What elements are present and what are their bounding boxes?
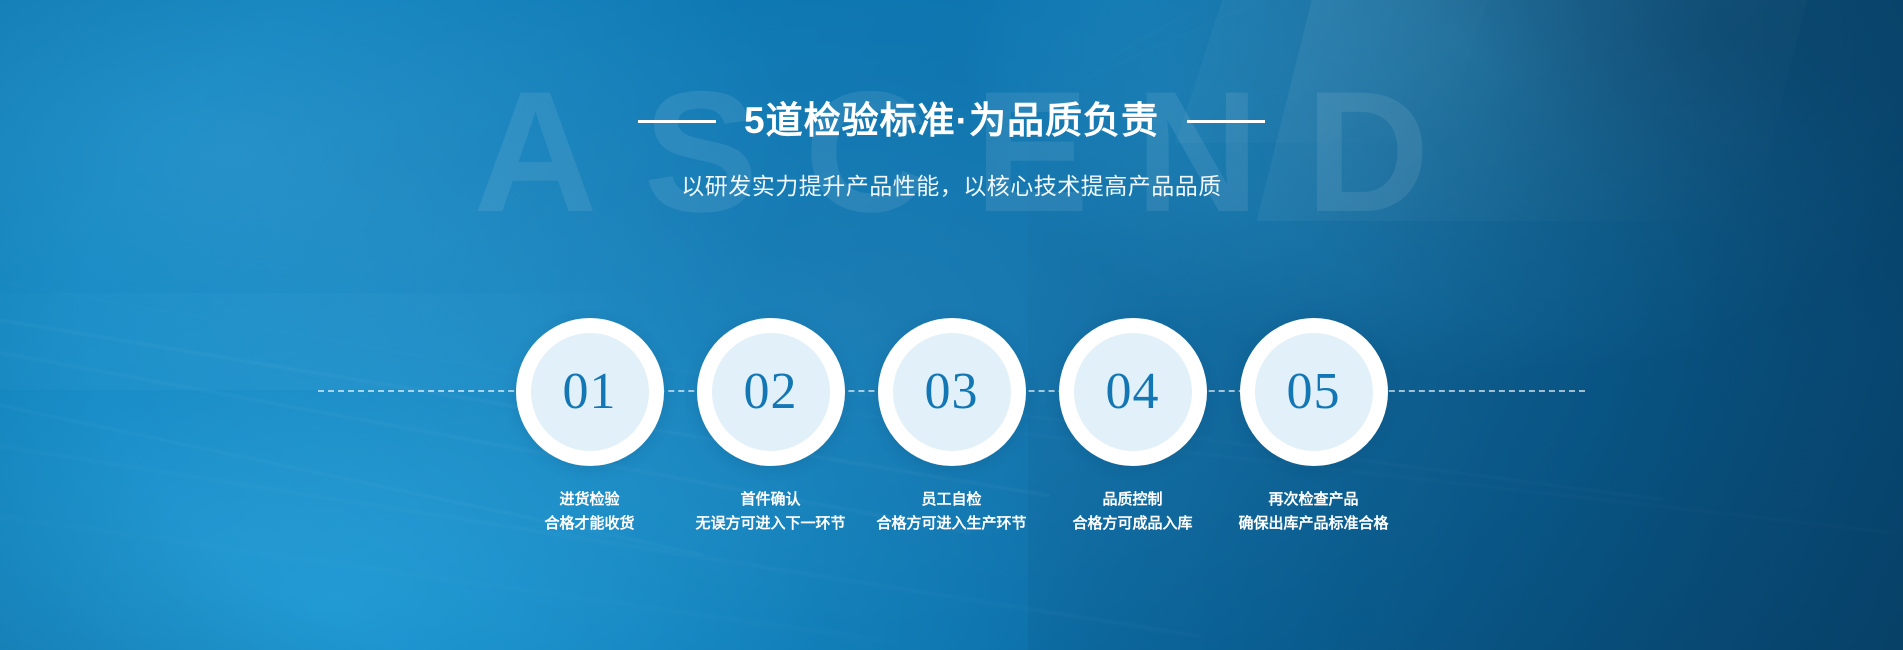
banner-header: 5道检验标准·为品质负责 以研发实力提升产品性能，以核心技术提高产品品质 xyxy=(0,100,1903,201)
step-item-05[interactable]: 05 再次检查产品 确保出库产品标准合格 xyxy=(1240,318,1388,537)
title-rule-left-icon xyxy=(638,120,716,123)
steps-track: 01 进货检验 合格才能收货 02 首件确认 无误方可进入下一环节 xyxy=(0,318,1903,537)
step-title: 首件确认 xyxy=(741,491,801,508)
step-caption: 再次检查产品 确保出库产品标准合格 xyxy=(1239,488,1389,537)
step-caption: 进货检验 合格才能收货 xyxy=(544,488,634,537)
process-steps: 01 进货检验 合格才能收货 02 首件确认 无误方可进入下一环节 xyxy=(0,318,1903,558)
step-title: 品质控制 xyxy=(1102,491,1162,508)
step-caption: 员工自检 合格方可进入生产环节 xyxy=(877,488,1027,537)
step-number: 03 xyxy=(925,366,979,418)
step-number: 04 xyxy=(1106,366,1160,418)
step-circle: 02 xyxy=(697,318,845,466)
title-row: 5道检验标准·为品质负责 xyxy=(0,100,1903,143)
page-title: 5道检验标准·为品质负责 xyxy=(744,100,1159,143)
step-title: 再次检查产品 xyxy=(1269,491,1359,508)
step-circle: 01 xyxy=(516,318,664,466)
step-caption: 品质控制 合格方可成品入库 xyxy=(1072,488,1192,537)
step-circle: 03 xyxy=(878,318,1026,466)
title-rule-right-icon xyxy=(1187,120,1265,123)
step-desc: 无误方可进入下一环节 xyxy=(696,512,846,536)
page-subtitle: 以研发实力提升产品性能，以核心技术提高产品品质 xyxy=(0,167,1903,201)
step-circle-inner: 02 xyxy=(712,333,830,451)
step-title: 进货检验 xyxy=(559,491,619,508)
step-circle-inner: 05 xyxy=(1255,333,1373,451)
step-item-01[interactable]: 01 进货检验 合格才能收货 xyxy=(516,318,664,537)
step-circle: 05 xyxy=(1240,318,1388,466)
step-desc: 合格方可成品入库 xyxy=(1072,512,1192,536)
step-item-02[interactable]: 02 首件确认 无误方可进入下一环节 xyxy=(697,318,845,537)
step-desc: 合格方可进入生产环节 xyxy=(877,512,1027,536)
step-number: 01 xyxy=(563,366,617,418)
step-item-03[interactable]: 03 员工自检 合格方可进入生产环节 xyxy=(878,318,1026,537)
step-number: 02 xyxy=(744,366,798,418)
step-number: 05 xyxy=(1287,366,1341,418)
step-title: 员工自检 xyxy=(922,491,982,508)
quality-standards-banner: ASCEND 5道检验标准·为品质负责 以研发实力提升产品性能，以核心技术提高产… xyxy=(0,0,1903,650)
step-item-04[interactable]: 04 品质控制 合格方可成品入库 xyxy=(1059,318,1207,537)
step-circle-inner: 03 xyxy=(893,333,1011,451)
step-desc: 合格才能收货 xyxy=(544,512,634,536)
step-circle-inner: 01 xyxy=(531,333,649,451)
step-caption: 首件确认 无误方可进入下一环节 xyxy=(696,488,846,537)
step-circle-inner: 04 xyxy=(1074,333,1192,451)
step-circle: 04 xyxy=(1059,318,1207,466)
step-desc: 确保出库产品标准合格 xyxy=(1239,512,1389,536)
